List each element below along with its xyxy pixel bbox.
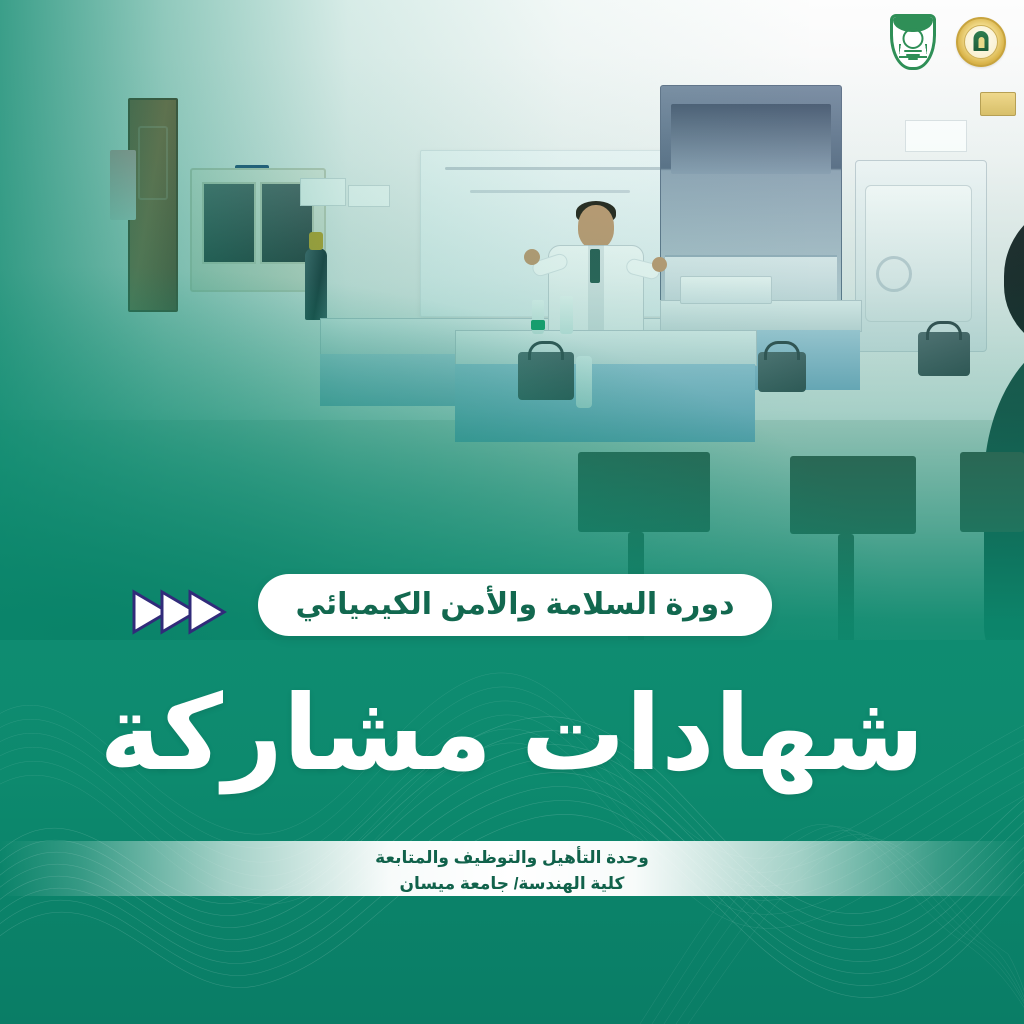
arrow-glyphs	[128, 586, 238, 638]
ministry-emblem-arch-icon	[974, 31, 989, 51]
front-bench-body	[455, 364, 755, 442]
wall-paper-1	[300, 178, 346, 206]
front-bench-top	[455, 330, 757, 366]
lecturer-tie	[590, 249, 600, 283]
lab-bottle-cap	[531, 320, 545, 330]
course-title-text: دورة السلامة والأمن الكيميائي	[296, 590, 735, 620]
air-conditioner	[865, 185, 972, 322]
fume-hood-sash	[671, 104, 831, 174]
chair	[790, 456, 916, 534]
shield-text-lines	[904, 48, 922, 62]
lab-bottle	[560, 296, 573, 334]
triple-play-arrow-icon	[128, 586, 238, 638]
right-counter-top	[660, 300, 862, 332]
handbag-handle	[926, 321, 962, 340]
logo-row	[890, 14, 1006, 70]
lecturer-head	[578, 205, 614, 249]
wall-poster	[110, 150, 136, 220]
chair	[960, 452, 1024, 532]
lecturer-right-hand	[652, 257, 667, 272]
gas-cylinder	[305, 248, 327, 320]
handbag-handle	[528, 341, 564, 360]
wall-paper-2	[348, 185, 390, 207]
handbag-handle	[764, 341, 800, 360]
poster-canvas: دورة السلامة والأمن الكيميائي شهادات مشا…	[0, 0, 1024, 1024]
misan-university-shield-logo	[890, 14, 936, 70]
whiteboard-writing	[470, 190, 630, 193]
handbag	[758, 352, 806, 392]
course-title-pill: دورة السلامة والأمن الكيميائي	[258, 574, 772, 636]
lecturer-left-hand	[524, 249, 540, 265]
footer-line-2: كلية الهندسة/ جامعة ميسان	[0, 871, 1024, 897]
yellow-warning-sign	[980, 92, 1016, 116]
footer-line-1: وحدة التأهيل والتوظيف والمتابعة	[0, 845, 1024, 871]
wall-paper-3	[905, 120, 967, 152]
lab-instrument	[680, 276, 772, 304]
water-bottle	[576, 356, 592, 408]
ministry-emblem-logo	[956, 17, 1006, 67]
handbag	[918, 332, 970, 376]
chair	[838, 534, 854, 642]
page-title: شهادات مشاركة	[0, 676, 1024, 792]
hero-photo	[0, 0, 1024, 660]
handbag	[518, 352, 574, 400]
chair	[578, 452, 710, 532]
footer-text: وحدة التأهيل والتوظيف والمتابعة كلية اله…	[0, 845, 1024, 896]
